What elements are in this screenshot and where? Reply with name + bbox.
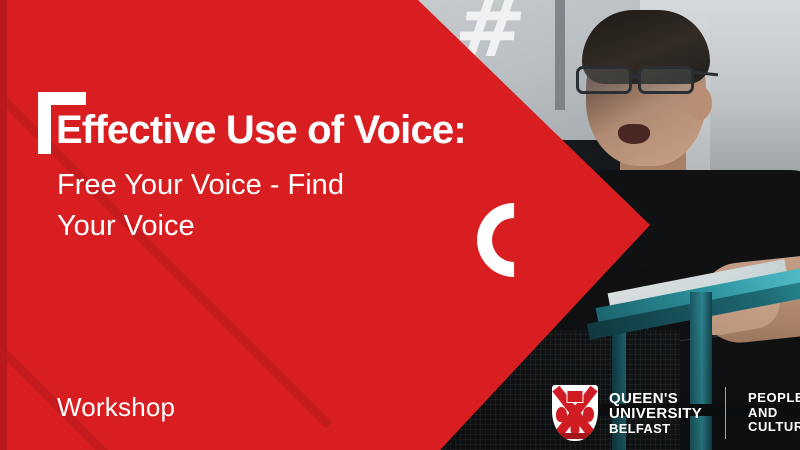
logo-divider bbox=[725, 387, 726, 439]
subtitle-line-2: Your Voice bbox=[57, 206, 477, 247]
crest-lion bbox=[556, 407, 567, 422]
bracket-vertical bbox=[38, 92, 51, 154]
crest-book bbox=[567, 390, 584, 403]
crest-motto-scroll bbox=[560, 433, 590, 439]
crest-center-charge bbox=[570, 405, 580, 417]
university-line-2: UNIVERSITY bbox=[609, 406, 702, 422]
unit-line-1: PEOPLE bbox=[748, 391, 800, 406]
queens-university-crest-icon bbox=[552, 385, 598, 441]
logo-lockup: QUEEN'S UNIVERSITY BELFAST PEOPLE AND CU… bbox=[552, 384, 800, 442]
unit-wordmark: PEOPLE AND CULTURE bbox=[748, 391, 800, 435]
left-edge-strip bbox=[0, 0, 7, 450]
slide-canvas: # Ef bbox=[0, 0, 800, 450]
crest-seahorse bbox=[571, 420, 580, 434]
unit-line-3: CULTURE bbox=[748, 420, 800, 435]
university-line-1: QUEEN'S bbox=[609, 391, 702, 407]
university-line-3: BELFAST bbox=[609, 422, 702, 436]
page-title: Effective Use of Voice: bbox=[56, 109, 576, 151]
university-wordmark: QUEEN'S UNIVERSITY BELFAST bbox=[609, 391, 702, 436]
event-type-label: Workshop bbox=[57, 392, 175, 423]
subtitle: Free Your Voice - Find Your Voice bbox=[57, 165, 477, 247]
unit-line-2: AND bbox=[748, 406, 800, 421]
crest-harp bbox=[583, 407, 594, 422]
subtitle-line-1: Free Your Voice - Find bbox=[57, 165, 477, 206]
